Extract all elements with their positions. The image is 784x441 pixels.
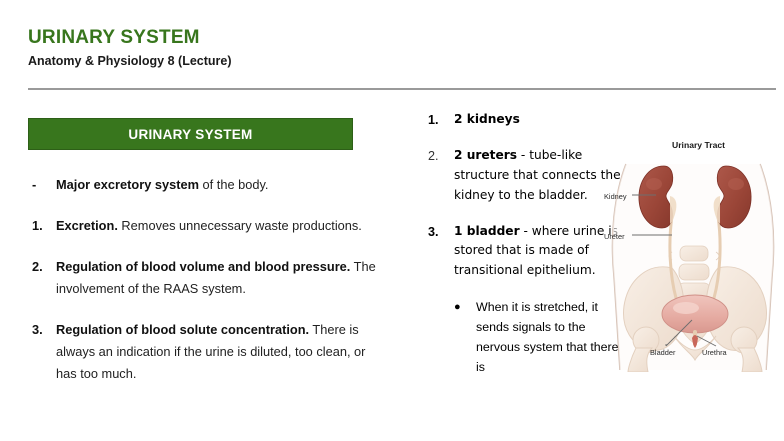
header-divider bbox=[28, 88, 776, 90]
list-detail: Removes unnecessary waste productions. bbox=[118, 218, 362, 233]
page-subtitle: Anatomy & Physiology 8 (Lecture) bbox=[28, 55, 232, 69]
list-term: Regulation of blood solute concentration… bbox=[56, 322, 309, 337]
list-term: Major excretory system bbox=[56, 177, 199, 192]
list-detail: of the body. bbox=[199, 177, 268, 192]
list-marker: 1. bbox=[28, 215, 56, 237]
list-body: 2 kidneys bbox=[454, 110, 628, 130]
left-list: - Major excretory system of the body. 1.… bbox=[28, 174, 383, 385]
list-body: Major excretory system of the body. bbox=[56, 174, 383, 196]
list-term: 1 bladder bbox=[454, 224, 520, 238]
list-marker: 2. bbox=[428, 146, 454, 205]
banner-label: URINARY SYSTEM bbox=[128, 127, 252, 142]
list-item: 3. Regulation of blood solute concentrat… bbox=[28, 319, 383, 385]
list-body: Excretion. Removes unnecessary waste pro… bbox=[56, 215, 383, 237]
list-item: 1. Excretion. Removes unnecessary waste … bbox=[28, 215, 383, 237]
urinary-tract-illustration bbox=[596, 140, 784, 372]
list-body: Regulation of blood solute concentration… bbox=[56, 319, 383, 385]
slide-page: URINARY SYSTEM Anatomy & Physiology 8 (L… bbox=[0, 0, 784, 441]
list-item: 2. Regulation of blood volume and blood … bbox=[28, 256, 383, 300]
list-term: Excretion. bbox=[56, 218, 118, 233]
list-marker: 1. bbox=[428, 110, 454, 130]
urinary-tract-figure: Urinary Tract bbox=[596, 140, 784, 372]
figure-label-kidney: Kidney bbox=[604, 192, 627, 201]
list-marker: 3. bbox=[428, 222, 454, 281]
list-item: - Major excretory system of the body. bbox=[28, 174, 383, 196]
list-body: Regulation of blood volume and blood pre… bbox=[56, 256, 383, 300]
list-marker: 3. bbox=[28, 319, 56, 385]
list-term: Regulation of blood volume and blood pre… bbox=[56, 259, 350, 274]
figure-label-ureter: Ureter bbox=[604, 232, 625, 241]
figure-label-urethra: Urethra bbox=[702, 348, 727, 357]
list-term: 2 ureters bbox=[454, 148, 517, 162]
left-column: URINARY SYSTEM - Major excretory system … bbox=[28, 118, 383, 404]
page-title: URINARY SYSTEM bbox=[28, 28, 200, 49]
figure-label-bladder: Bladder bbox=[650, 348, 675, 357]
list-marker: - bbox=[28, 174, 56, 196]
list-item: 1. 2 kidneys bbox=[428, 110, 628, 130]
list-term: 2 kidneys bbox=[454, 112, 520, 126]
list-marker: 2. bbox=[28, 256, 56, 300]
bladder-organ bbox=[662, 295, 728, 333]
bullet-dot-icon: ● bbox=[454, 297, 476, 377]
urinary-system-banner: URINARY SYSTEM bbox=[28, 118, 353, 150]
